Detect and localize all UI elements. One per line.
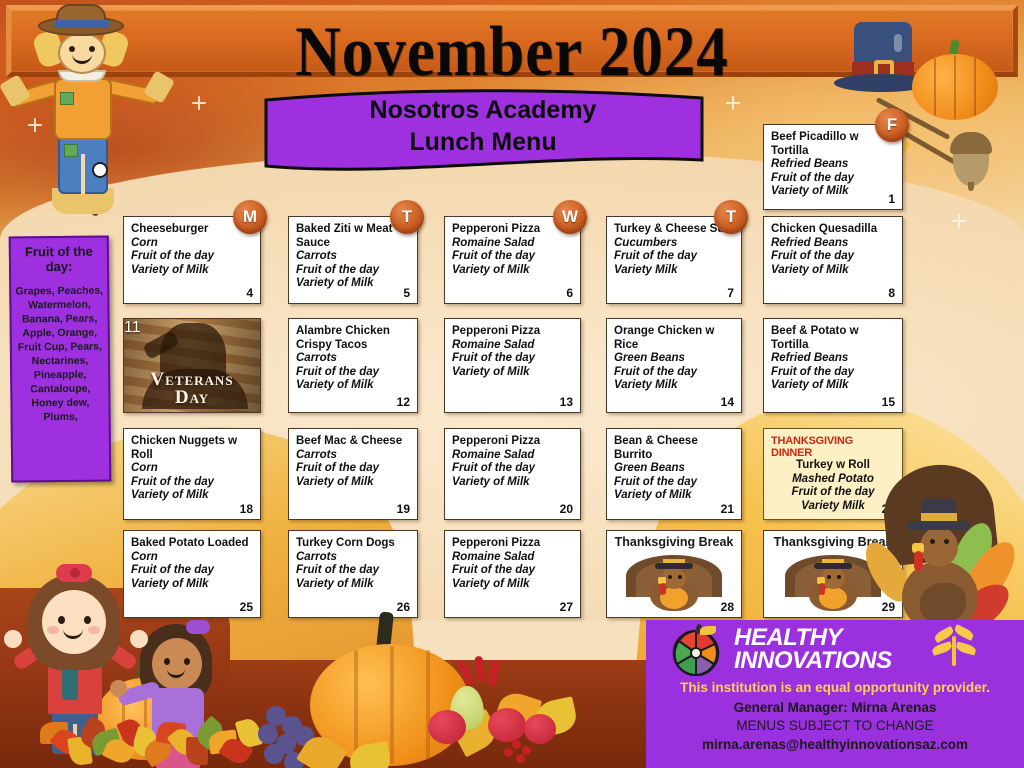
- day-badge-thursday: T: [714, 200, 748, 234]
- healthy-innovations-apple-icon: [670, 626, 722, 676]
- thanksgiving-dinner-heading: THANKSGIVING DINNER: [771, 435, 895, 459]
- day-number: 1: [888, 192, 895, 206]
- menu-entree: Pepperoni Pizza: [452, 537, 573, 551]
- day-number: 13: [560, 395, 573, 409]
- menu-entree: Alambre Chicken Crispy Tacos: [296, 325, 410, 352]
- menu-side: Refried Beans: [771, 158, 895, 172]
- menu-side: Carrots: [296, 551, 410, 565]
- day-number: 4: [246, 286, 253, 300]
- general-manager-line: General Manager: Mirna Arenas: [646, 700, 1024, 715]
- menu-side: Fruit of the day: [131, 476, 253, 490]
- day-number: 15: [882, 395, 895, 409]
- menu-side: Fruit of the day: [452, 462, 573, 476]
- menu-side: Variety of Milk: [771, 264, 895, 278]
- menu-side: Fruit of the day: [131, 250, 253, 264]
- menu-side: Variety of Milk: [296, 379, 410, 393]
- day-number: 18: [240, 502, 253, 516]
- menu-side: Fruit of the day: [296, 264, 410, 278]
- day-number: 20: [560, 502, 573, 516]
- menu-side: Variety Milk: [614, 264, 734, 278]
- day-number: 19: [397, 502, 410, 516]
- day-badge-friday: F: [875, 108, 909, 142]
- menu-side: Fruit of the day: [614, 476, 734, 490]
- calendar-cell-menu: Pepperoni PizzaRomaine SaladFruit of the…: [444, 318, 581, 413]
- menu-side: Carrots: [296, 250, 410, 264]
- menu-side: Fruit of the day: [452, 352, 573, 366]
- menu-side: Carrots: [296, 352, 410, 366]
- day-badge-wednesday: W: [553, 200, 587, 234]
- veterans-day-line-2: Day: [124, 387, 260, 409]
- day-badge-tuesday: T: [390, 200, 424, 234]
- day-number: 5: [403, 286, 410, 300]
- menu-side: Romaine Salad: [452, 339, 573, 353]
- menu-side: Variety of Milk: [296, 476, 410, 490]
- calendar-cell-menu: Bean & Cheese BurritoGreen BeansFruit of…: [606, 428, 742, 520]
- menu-side: Fruit of the day: [452, 250, 573, 264]
- day-number: 14: [721, 395, 734, 409]
- day-badge-monday: M: [233, 200, 267, 234]
- calendar-cell-menu: Pepperoni PizzaRomaine SaladFruit of the…: [444, 428, 581, 520]
- menu-side: Carrots: [296, 449, 410, 463]
- harvest-illustration: [250, 598, 670, 768]
- menu-side: Variety of Milk: [131, 264, 253, 278]
- menu-entree: Beef & Potato w Tortilla: [771, 325, 895, 352]
- menu-side: Fruit of the day: [771, 366, 895, 380]
- menu-side: Variety of Milk: [771, 185, 895, 199]
- menu-side: Variety of Milk: [296, 578, 410, 592]
- menu-entree: Beef Picadillo w Tortilla: [771, 131, 895, 158]
- calendar-cell-menu: Orange Chicken w RiceGreen BeansFruit of…: [606, 318, 742, 413]
- break-title: Thanksgiving Break: [607, 535, 741, 549]
- menu-side: Variety of Milk: [131, 489, 253, 503]
- menu-side: Fruit of the day: [296, 462, 410, 476]
- calendar-cell-menu: Beef Mac & CheeseCarrotsFruit of the day…: [288, 428, 418, 520]
- menu-entree: Pepperoni Pizza: [452, 435, 573, 449]
- menu-entree: Chicken Nuggets w Roll: [131, 435, 253, 462]
- menu-side: Fruit of the day: [614, 250, 734, 264]
- contact-email[interactable]: mirna.arenas@healthyinnovationsaz.com: [646, 737, 1024, 752]
- menu-side: Cucumbers: [614, 237, 734, 251]
- footer-banner: HEALTHY INNOVATIONS This institution is …: [646, 620, 1024, 768]
- wheat-sprig-icon: [932, 624, 978, 668]
- calendar-cell-menu: Chicken QuesadillaRefried BeansFruit of …: [763, 216, 903, 304]
- menu-side: Variety of Milk: [771, 379, 895, 393]
- day-number: 7: [727, 286, 734, 300]
- menu-side: Fruit of the day: [771, 250, 895, 264]
- menu-side: Fruit of the day: [296, 564, 410, 578]
- menu-side: Romaine Salad: [452, 237, 573, 251]
- menu-side: Variety of Milk: [452, 476, 573, 490]
- menu-entree: Orange Chicken w Rice: [614, 325, 734, 352]
- menu-entree: Turkey Corn Dogs: [296, 537, 410, 551]
- menu-side: Fruit of the day: [771, 172, 895, 186]
- brand-line-2: INNOVATIONS: [734, 649, 892, 672]
- menu-side: Variety of Milk: [452, 366, 573, 380]
- day-number: 12: [397, 395, 410, 409]
- menu-side: Variety of Milk: [614, 489, 734, 503]
- calendar-cell-menu: Alambre Chicken Crispy TacosCarrotsFruit…: [288, 318, 418, 413]
- day-number: 28: [721, 600, 734, 614]
- calendar-cell-menu: Chicken Nuggets w RollCornFruit of the d…: [123, 428, 261, 520]
- menu-side: Romaine Salad: [452, 449, 573, 463]
- menu-side: Variety of Milk: [452, 578, 573, 592]
- brand-line-1: HEALTHY: [734, 626, 892, 649]
- children-illustration: [0, 528, 250, 768]
- menu-entree: Pepperoni Pizza: [452, 325, 573, 339]
- menu-side: Variety Milk: [614, 379, 734, 393]
- menu-side: Fruit of the day: [614, 366, 734, 380]
- menu-side: Corn: [131, 237, 253, 251]
- menu-entree: Beef Mac & Cheese: [296, 435, 410, 449]
- equal-opportunity-notice: This institution is an equal opportunity…: [646, 680, 1024, 695]
- day-number: 21: [721, 502, 734, 516]
- menu-side: Fruit of the day: [296, 366, 410, 380]
- menu-side: Green Beans: [614, 462, 734, 476]
- menu-side: Corn: [131, 462, 253, 476]
- menu-side: Refried Beans: [771, 237, 895, 251]
- menu-side: Green Beans: [614, 352, 734, 366]
- day-number: 8: [888, 286, 895, 300]
- menu-side: Variety of Milk: [296, 277, 410, 291]
- day-number: 6: [566, 286, 573, 300]
- menu-side: Fruit of the day: [452, 564, 573, 578]
- menu-side: Variety of Milk: [452, 264, 573, 278]
- menu-entree: Chicken Quesadilla: [771, 223, 895, 237]
- menus-subject-to-change: MENUS SUBJECT TO CHANGE: [646, 718, 1024, 733]
- menu-side: Refried Beans: [771, 352, 895, 366]
- calendar-cell-menu: Beef & Potato w TortillaRefried BeansFru…: [763, 318, 903, 413]
- menu-entree: Bean & Cheese Burrito: [614, 435, 734, 462]
- menu-side: Romaine Salad: [452, 551, 573, 565]
- calendar-cell-veterans-day: VeteransDay11: [123, 318, 261, 413]
